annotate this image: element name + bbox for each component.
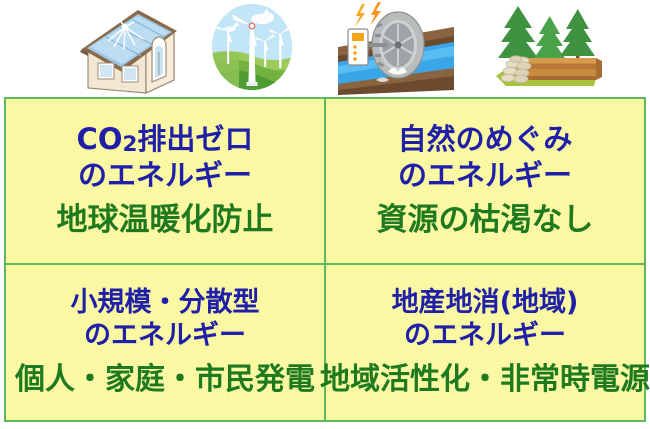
- cell-title-prefix: 自然のめぐみ: [398, 122, 573, 156]
- cell-subtitle: 地球温暖化防止: [57, 202, 274, 239]
- cell-nature-blessing: 自然のめぐみ のエネルギー 資源の枯渇なし: [325, 98, 645, 264]
- cell-title-suffix: 排出ゼロ: [137, 122, 253, 156]
- biomass-logs-trees-icon: [472, 0, 612, 95]
- cell-small-distributed: 小規模・分散型 のエネルギー 個人・家庭・市民発電: [5, 264, 325, 421]
- cell-title-prefix: CO: [77, 122, 123, 156]
- table-row: 小規模・分散型 のエネルギー 個人・家庭・市民発電 地産地消(地域) のエネルギ…: [5, 264, 645, 421]
- benefits-grid-table: CO2排出ゼロ のエネルギー 地球温暖化防止 自然のめぐみ のエネルギー 資: [4, 97, 646, 422]
- cell-title: 自然のめぐみ のエネルギー: [398, 122, 573, 193]
- cell-title-line2: のエネルギー: [77, 158, 254, 193]
- cell-title: CO2排出ゼロ のエネルギー: [77, 122, 254, 193]
- cell-title-line2: のエネルギー: [392, 320, 579, 353]
- cell-title-prefix: 小規模・分散型: [71, 287, 260, 318]
- water-wheel-hydro-icon: [336, 0, 456, 95]
- cell-local-production: 地産地消(地域) のエネルギー 地域活性化・非常時電源: [325, 264, 645, 421]
- cell-title: 地産地消(地域) のエネルギー: [392, 287, 579, 353]
- cell-co2-zero: CO2排出ゼロ のエネルギー 地球温暖化防止: [5, 98, 325, 264]
- renewable-energy-benefits-slide: CO2排出ゼロ のエネルギー 地球温暖化防止 自然のめぐみ のエネルギー 資: [0, 0, 650, 429]
- solar-panel-house-icon: [46, 0, 196, 95]
- cell-subtitle: 個人・家庭・市民発電: [15, 362, 315, 398]
- cell-subtitle: 資源の枯渇なし: [377, 202, 594, 239]
- cell-title-prefix: 地産地消(地域): [392, 287, 579, 318]
- cell-title-subscript: 2: [122, 132, 137, 157]
- energy-icon-strip: [0, 0, 650, 95]
- cell-title: 小規模・分散型 のエネルギー: [71, 287, 260, 353]
- cell-subtitle: 地域活性化・非常時電源: [320, 362, 650, 398]
- cell-title-line2: のエネルギー: [71, 320, 260, 353]
- table-row: CO2排出ゼロ のエネルギー 地球温暖化防止 自然のめぐみ のエネルギー 資: [5, 98, 645, 264]
- wind-turbine-icon: [205, 0, 300, 95]
- cell-title-line2: のエネルギー: [398, 158, 573, 193]
